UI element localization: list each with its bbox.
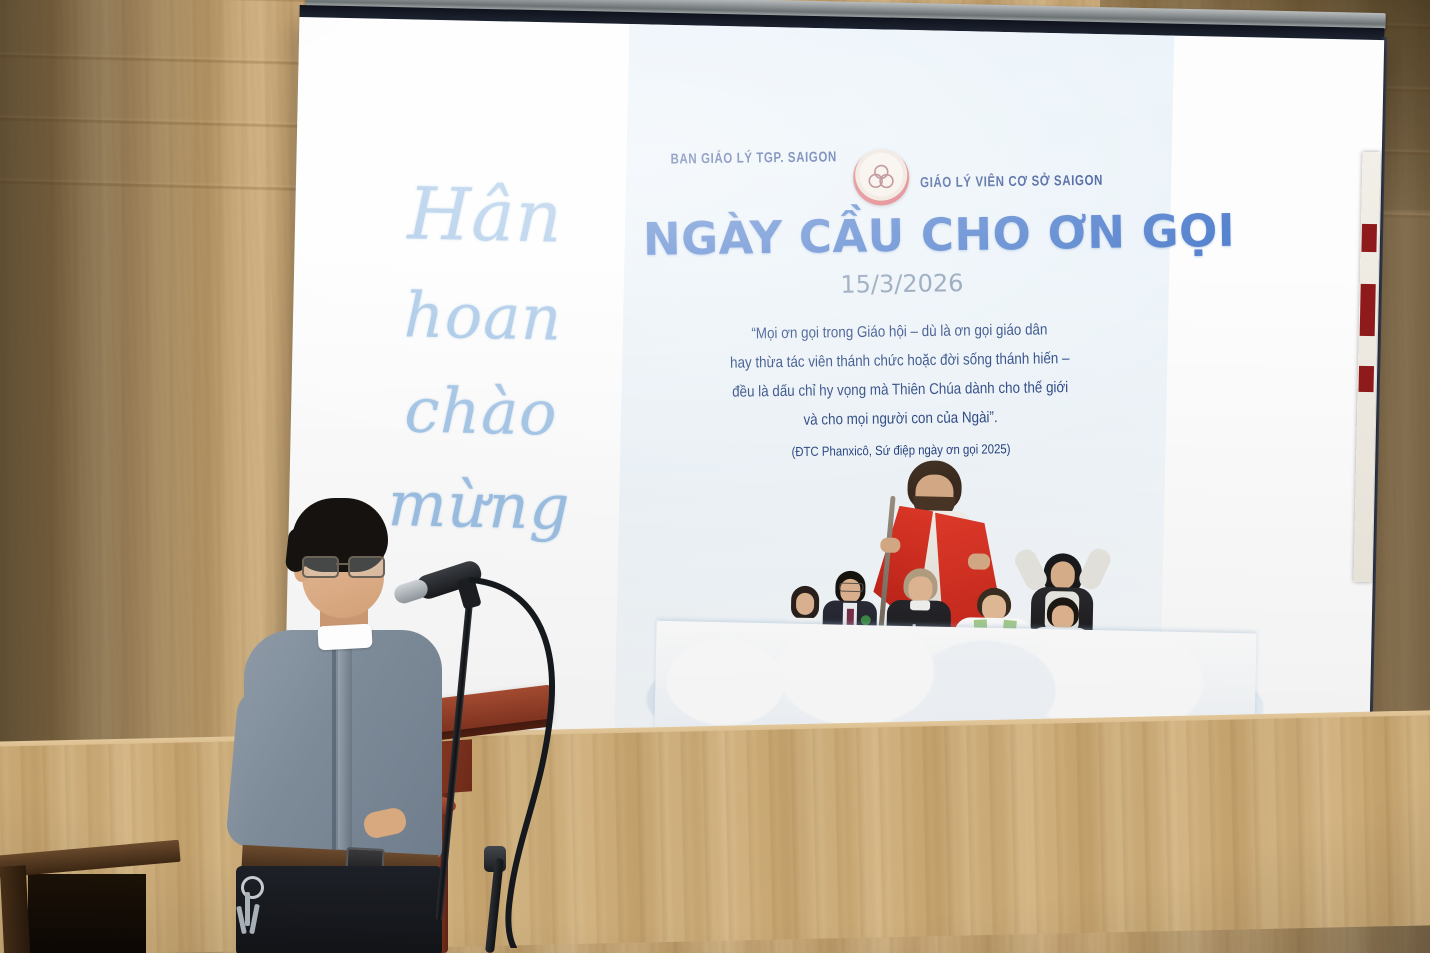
presentation-scene: Hân hoan chào mừng BAN GIÁO LÝ TGP. SAIG… [0,0,1430,953]
quote-line-4: và cho mọi người con của Ngài”. [650,401,1150,437]
bench-leg [0,865,30,953]
greeting-line-2: hoan [347,268,619,368]
boom-microphone [386,558,576,953]
slide-quote-block: “Mọi ơn gọi trong Giáo hội – dù là ơn gọ… [649,314,1151,467]
mic-stem [435,602,473,921]
roman-collar [317,624,372,651]
slide-title: NGÀY CẦU CHO ƠN GỌI [643,209,1164,262]
mic-stand-base [485,858,504,953]
greeting-line-3: chào [345,362,617,462]
speaker-shirt-fold [332,642,336,852]
eyeglasses-icon [300,556,388,576]
slide-header-right-label: GIÁO LÝ VIÊN CƠ SỞ SAIGON [920,173,1103,190]
slide-header-left-label: BAN GIÁO LÝ TGP. SAIGON [670,150,837,167]
mic-capsule [392,577,430,606]
bench-shadow [28,874,146,953]
trinity-knot-seal-icon [853,149,910,206]
greeting-line-1: Hân [349,158,621,273]
slide-header-row: BAN GIÁO LÝ TGP. SAIGON GIÁO LÝ VIÊN CƠ … [648,142,1149,209]
speaker-shirt-placket [338,644,352,849]
wooden-bench [0,848,190,953]
keyring-icon [234,876,264,946]
